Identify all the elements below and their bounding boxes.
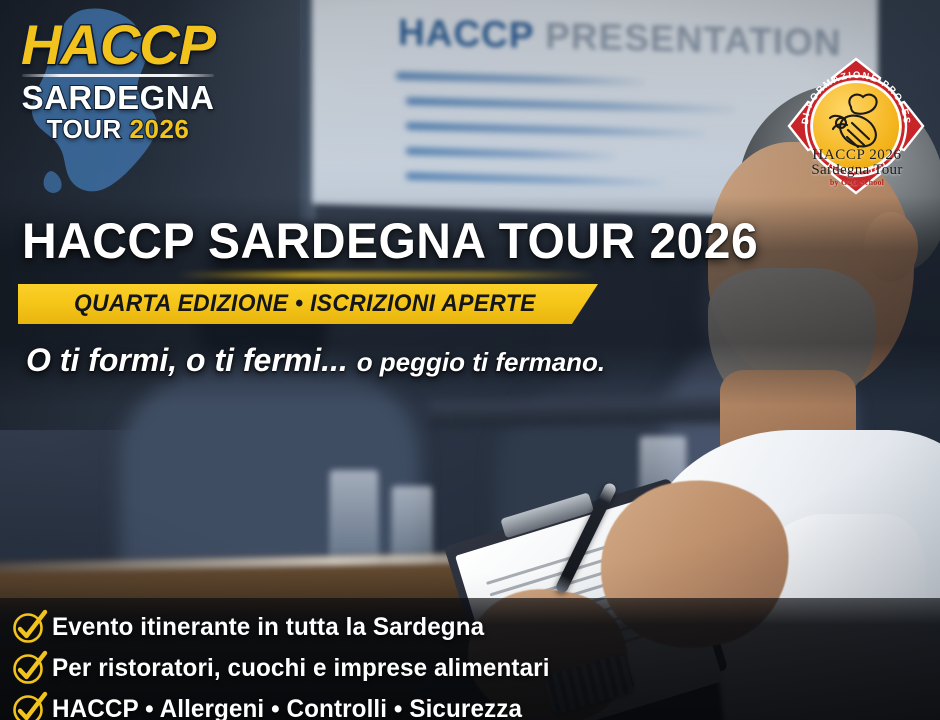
water-glass	[330, 470, 378, 566]
edition-banner: QUARTA EDIZIONE • ISCRIZIONI APERTE	[18, 284, 598, 324]
list-item: Per ristoratori, cuochi e imprese alimen…	[10, 649, 710, 687]
haccp-sardegna-tour-logo: HACCP SARDEGNA TOUR 2026	[8, 4, 224, 200]
check-circle-icon	[10, 608, 52, 646]
list-item-label: Evento itinerante in tutta la Sardegna	[52, 613, 484, 642]
logo-tour-year: 2026	[130, 114, 190, 144]
check-circle-icon	[10, 690, 52, 720]
list-item: HACCP • Allergeni • Controlli • Sicurezz…	[10, 690, 710, 720]
list-item-label: Per ristoratori, cuochi e imprese alimen…	[52, 654, 550, 683]
badge-caption-line3: by G2G School	[778, 179, 936, 187]
page-title: HACCP SARDEGNA TOUR 2026	[22, 216, 752, 266]
badge-caption: HACCP 2026 Sardegna Tour by G2G School	[778, 148, 936, 187]
headline-part1: HACCP	[22, 213, 208, 269]
headline-part2: SARDEGNA TOUR 2026	[208, 213, 758, 269]
tagline-part1: O ti formi, o ti fermi...	[26, 342, 357, 378]
edition-banner-text: QUARTA EDIZIONE • ISCRIZIONI APERTE	[74, 290, 536, 318]
logo-text-block: HACCP SARDEGNA TOUR 2026	[18, 18, 218, 142]
check-circle-icon	[10, 649, 52, 687]
headline-underline-glow	[176, 272, 596, 278]
tagline: O ti formi, o ti fermi... o peggio ti fe…	[26, 342, 605, 379]
feature-checklist: Evento itinerante in tutta la Sardegna P…	[10, 608, 710, 720]
logo-haccp-word: HACCP	[18, 18, 218, 72]
tagline-part2: o peggio ti fermano.	[357, 347, 605, 377]
badge-caption-line2: Sardegna Tour	[778, 163, 936, 178]
screen-title-part1: HACCP	[398, 12, 545, 57]
list-item: Evento itinerante in tutta la Sardegna	[10, 608, 710, 646]
logo-tour-word: TOUR	[47, 114, 122, 144]
logo-tour-line: TOUR 2026	[18, 116, 218, 142]
logo-sardegna-word: SARDEGNA	[18, 81, 218, 114]
badge-caption-line1: HACCP 2026	[778, 148, 936, 163]
promotional-poster: HACCP PRESENTATION	[0, 0, 940, 720]
list-item-label: HACCP • Allergeni • Controlli • Sicurezz…	[52, 695, 522, 720]
man-ear	[864, 212, 918, 282]
